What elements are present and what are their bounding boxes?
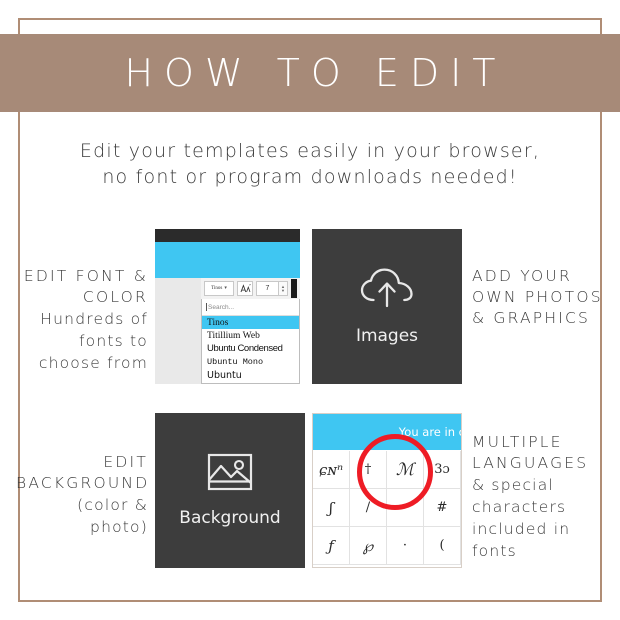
caption-font-sub-1: Hundreds of	[16, 308, 148, 330]
font-search-input[interactable]: Search...	[202, 299, 299, 316]
charmap-cell[interactable]: #	[424, 489, 461, 527]
font-size-glyph	[240, 284, 251, 293]
font-list-item-label: Ubuntu	[207, 370, 242, 381]
caption-lang-sub-2: characters	[472, 496, 612, 518]
background-tile-content: Background	[155, 413, 305, 568]
charmap-cell[interactable]: ℳ	[387, 451, 424, 489]
font-toolbar: Tinos ▾ 7 ▲ ▼	[201, 278, 300, 300]
font-list-item-titillium-web[interactable]: Titillium Web	[202, 329, 299, 342]
caption-bg-heading-2: BACKGROUND	[16, 473, 148, 494]
editor-title-bar	[155, 229, 300, 242]
charmap-cell[interactable]: ɕɴⁿ	[313, 451, 350, 489]
font-list-item-label: Tinos	[207, 318, 228, 328]
font-list-item-ubuntu-condensed[interactable]: Ubuntu Condensed	[202, 342, 299, 355]
caption-lang-heading-1: MULTIPLE	[472, 432, 612, 453]
caption-edit-background: EDIT BACKGROUND (color & photo)	[16, 452, 148, 538]
screenshot-charmap-tile: You are in c ɕɴⁿ † ℳ 3ɔ ʃ / · # ƒ ℘ · (	[312, 413, 462, 568]
caption-lang-heading-2: LANGUAGES	[472, 453, 612, 474]
font-size-input[interactable]: 7	[256, 281, 279, 296]
font-list-item-label: Titillium Web	[207, 331, 260, 341]
charmap-cell[interactable]: /	[350, 489, 387, 527]
font-search-placeholder: Search...	[208, 304, 234, 311]
cloud-upload-icon	[359, 267, 415, 314]
subtitle-line-2: no font or program downloads needed!	[30, 164, 590, 190]
font-family-value: Tinos	[211, 286, 222, 291]
screenshot-font-picker: Tinos ▾ 7 ▲ ▼ Search... Tinos	[155, 229, 300, 384]
subtitle-line-1: Edit your templates easily in your brows…	[30, 138, 590, 164]
charmap-cell[interactable]: (	[424, 527, 461, 565]
images-tile-content: Images	[312, 229, 462, 384]
font-size-stepper[interactable]: ▲ ▼	[279, 281, 288, 296]
screenshot-images-tile: Images	[312, 229, 462, 384]
character-map-grid[interactable]: ɕɴⁿ † ℳ 3ɔ ʃ / · # ƒ ℘ · (	[313, 451, 461, 567]
caption-photos-heading-1: ADD YOUR	[472, 266, 612, 287]
caption-bg-heading-1: EDIT	[16, 452, 148, 473]
caption-photos-heading-3: & GRAPHICS	[472, 308, 612, 329]
caption-add-photos: ADD YOUR OWN PHOTOS & GRAPHICS	[472, 266, 612, 329]
caption-multiple-languages: MULTIPLE LANGUAGES & special characters …	[472, 432, 612, 562]
font-list-item-tinos[interactable]: Tinos	[202, 316, 299, 329]
font-size-icon[interactable]	[237, 281, 253, 296]
background-tile-label: Background	[179, 508, 280, 528]
caption-edit-font-color: EDIT FONT & COLOR Hundreds of fonts to c…	[16, 266, 148, 374]
screenshot-background-tile: Background	[155, 413, 305, 568]
charmap-cell[interactable]: ℘	[350, 527, 387, 565]
subtitle: Edit your templates easily in your brows…	[30, 138, 590, 190]
cloud-upload-glyph	[359, 267, 415, 309]
font-dropdown-menu[interactable]: Search... Tinos Titillium Web Ubuntu Con…	[201, 299, 300, 384]
caption-bg-sub-2: photo)	[16, 516, 148, 538]
font-list-item-label: Ubuntu Mono	[207, 357, 263, 367]
images-tile-label: Images	[356, 326, 418, 346]
charmap-cell[interactable]: ʃ	[313, 489, 350, 527]
text-caret	[206, 303, 207, 311]
caption-lang-sub-1: & special	[472, 474, 612, 496]
page-title: HOW TO EDIT	[113, 51, 506, 95]
font-list-item-label: Ubuntu Condensed	[207, 343, 282, 354]
caption-font-sub-3: choose from	[16, 352, 148, 374]
scrollbar[interactable]	[291, 279, 297, 298]
caption-bg-sub-1: (color &	[16, 494, 148, 516]
charmap-cell[interactable]: †	[350, 451, 387, 489]
stepper-down-icon[interactable]: ▼	[281, 289, 285, 293]
charmap-cell[interactable]: ·	[387, 527, 424, 565]
font-family-select[interactable]: Tinos ▾	[204, 281, 234, 296]
caption-font-heading-1: EDIT FONT &	[16, 266, 148, 287]
font-list-item-ubuntu[interactable]: Ubuntu	[202, 369, 299, 382]
caption-lang-sub-3: included in	[472, 518, 612, 540]
caption-lang-sub-4: fonts	[472, 540, 612, 562]
font-size-value: 7	[266, 285, 270, 292]
chevron-down-icon: ▾	[224, 286, 227, 291]
charmap-cell[interactable]: 3ɔ	[424, 451, 461, 489]
charmap-blue-banner: You are in c	[313, 414, 461, 450]
caption-font-heading-2: COLOR	[16, 287, 148, 308]
image-placeholder-icon	[207, 453, 253, 496]
caption-font-sub-2: fonts to	[16, 330, 148, 352]
charmap-banner-text: You are in c	[399, 425, 462, 439]
font-list-item-ubuntu-mono[interactable]: Ubuntu Mono	[202, 356, 299, 369]
charmap-cell[interactable]: ƒ	[313, 527, 350, 565]
image-placeholder-glyph	[207, 453, 253, 491]
editor-blue-banner	[155, 242, 300, 278]
header-band: HOW TO EDIT	[0, 34, 620, 112]
charmap-cell[interactable]: ·	[387, 489, 424, 527]
caption-photos-heading-2: OWN PHOTOS	[472, 287, 612, 308]
